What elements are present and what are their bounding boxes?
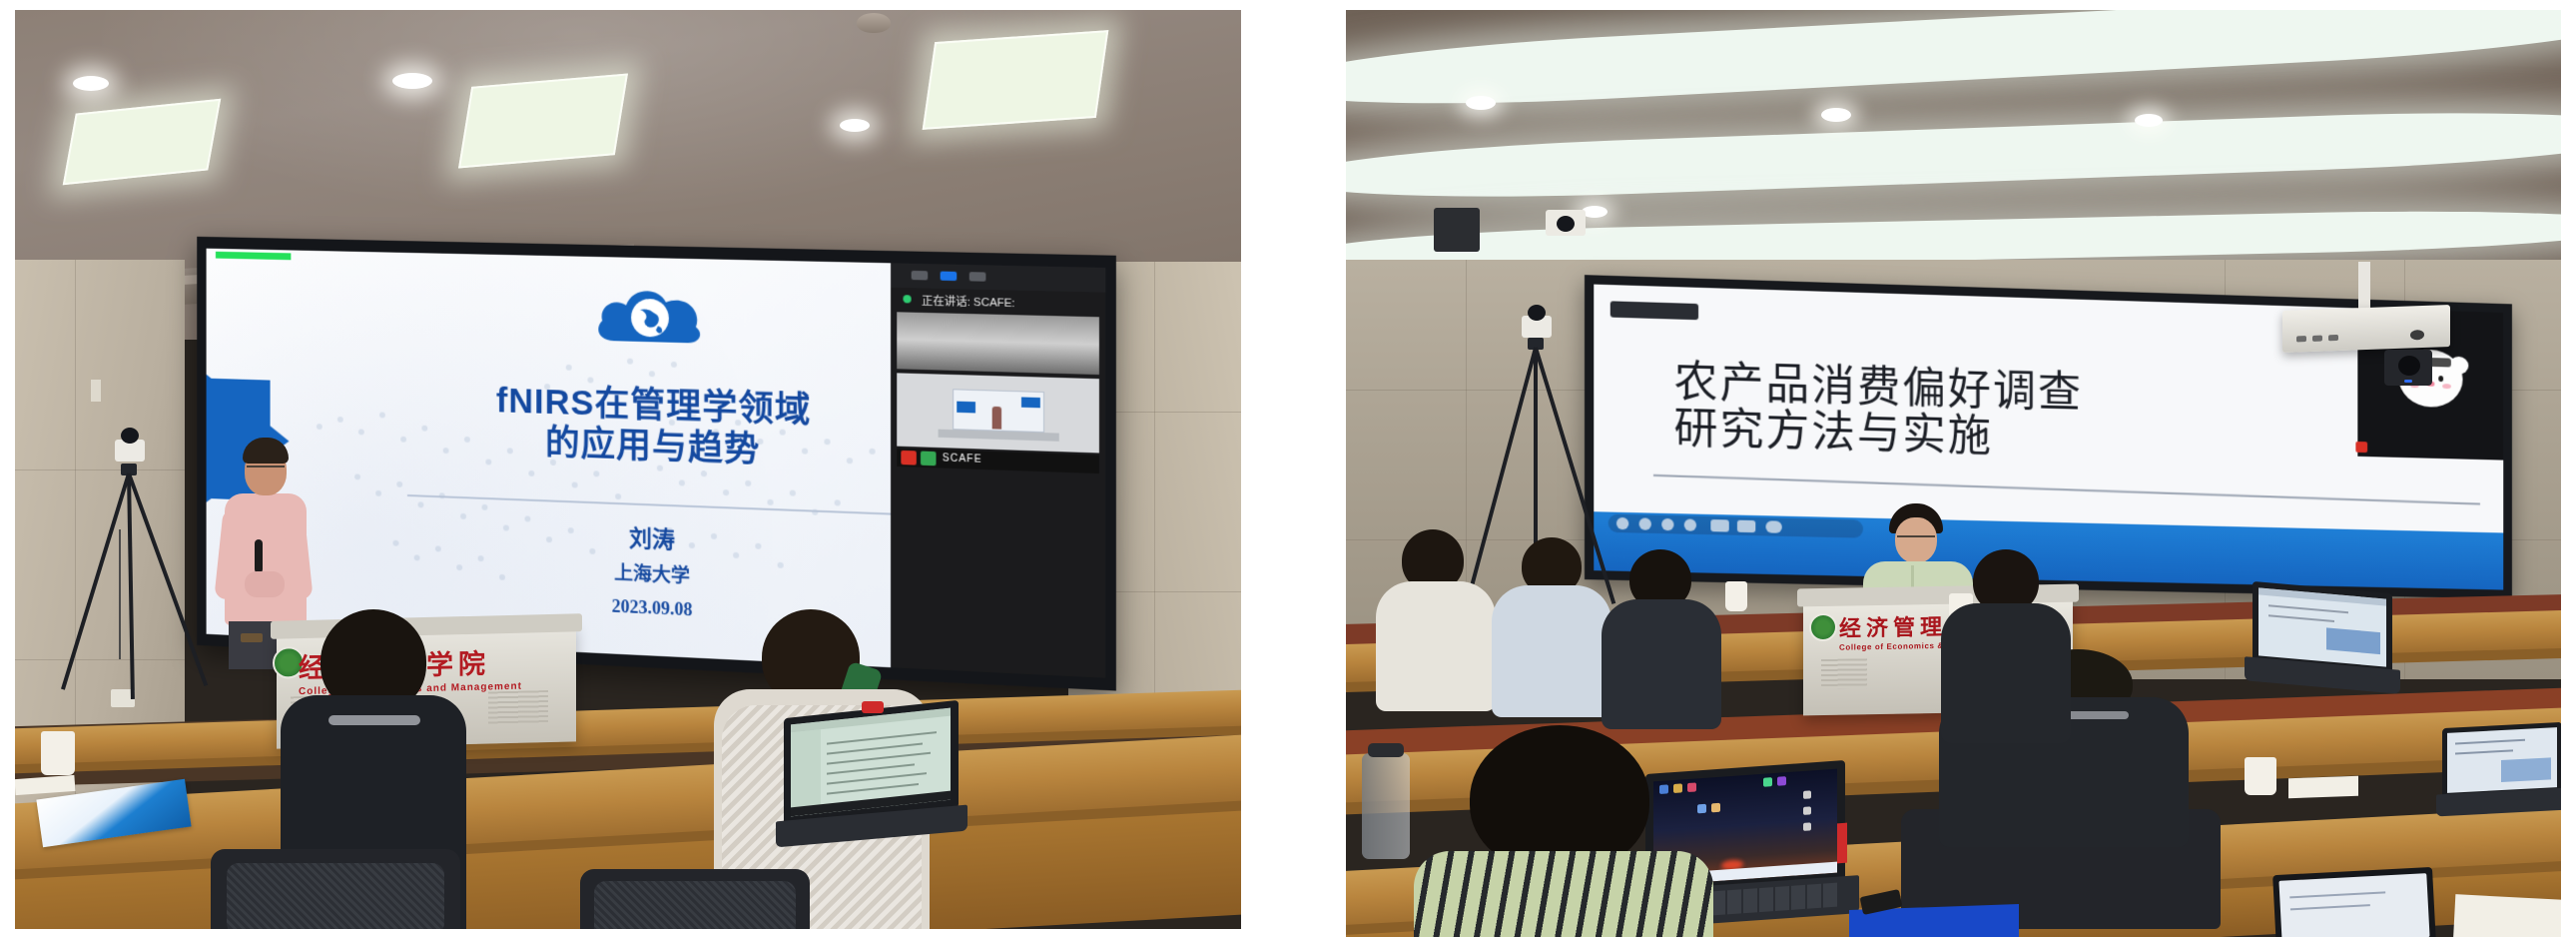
- ptz-camera-icon: [2384, 350, 2432, 386]
- audience-member: [1376, 529, 1496, 709]
- tablet[interactable]: [2272, 867, 2436, 937]
- collar: [328, 715, 420, 725]
- laptop-screen[interactable]: [791, 708, 951, 817]
- audience-member: [1492, 537, 1611, 717]
- presentation-mode-tag[interactable]: [1610, 301, 1698, 320]
- podium-vent: [1821, 658, 1867, 689]
- speaking-status-dot: [903, 295, 911, 303]
- laptop[interactable]: [2253, 587, 2392, 699]
- university-emblem-icon: [1809, 613, 1837, 641]
- belt: [241, 633, 263, 642]
- slide-nav-icon[interactable]: [1710, 519, 1728, 532]
- speaking-label: 正在讲话: SCAFE:: [922, 293, 1014, 312]
- paper-sheet: [2288, 776, 2358, 798]
- camera-on-icon[interactable]: [921, 451, 937, 466]
- camera-status-led: [2404, 380, 2412, 383]
- gallery-view-icon[interactable]: [941, 272, 958, 282]
- laptop-screen[interactable]: [2258, 587, 2386, 666]
- downlight-icon: [1466, 96, 1496, 110]
- video-tile-empty[interactable]: [897, 312, 1099, 375]
- mic-muted-icon[interactable]: [901, 451, 916, 466]
- presenter-hands: [245, 571, 285, 597]
- conference-toolbar[interactable]: [891, 263, 1105, 292]
- water-bottle: [1362, 753, 1410, 859]
- video-tile-room[interactable]: [897, 373, 1099, 453]
- ceiling-panel-light: [923, 30, 1109, 130]
- downlight-icon: [2135, 114, 2163, 127]
- office-chair: [580, 869, 810, 929]
- audience-member: [1941, 549, 2071, 739]
- camera-tripod: [73, 440, 193, 699]
- notes-icon[interactable]: [1737, 520, 1755, 533]
- left-photo: fNIRS在管理学领域 的应用与趋势 刘涛 上海大学 2023.09.08 正在…: [15, 10, 1241, 929]
- wall-speaker: [1434, 208, 1480, 252]
- layout-view-icon[interactable]: [912, 271, 929, 281]
- wall-mounted-camera: [1546, 210, 1586, 236]
- audience-member: [1414, 725, 1713, 937]
- presenter-hair: [243, 438, 289, 464]
- audience-member: [1602, 549, 1721, 729]
- paper-cup: [2245, 757, 2276, 795]
- slide-divider: [1653, 474, 2480, 505]
- pen-tool-icon[interactable]: [1661, 518, 1673, 530]
- webcam-cover-icon: [862, 701, 884, 713]
- office-chair: [211, 849, 460, 929]
- paper-cup: [41, 731, 75, 775]
- camera-lens-icon: [121, 428, 139, 444]
- ceiling-projector: [2282, 305, 2450, 353]
- microphone-icon: [255, 539, 263, 573]
- ceiling-panel-light: [458, 73, 628, 168]
- smoke-detector-icon: [857, 13, 891, 33]
- camera-lens-icon: [1528, 305, 1546, 321]
- downlight-icon: [392, 73, 432, 89]
- photo-collage: fNIRS在管理学领域 的应用与趋势 刘涛 上海大学 2023.09.08 正在…: [0, 0, 2576, 937]
- right-photo: 农产品消费偏好调查 研究方法与实施 正在讲话:: [1346, 10, 2561, 937]
- paper-sheet: [2453, 894, 2561, 937]
- mic-muted-icon[interactable]: [2355, 442, 2367, 453]
- brand-label: [1837, 823, 1847, 864]
- cursor-tool-icon[interactable]: [1616, 517, 1628, 529]
- downlight-icon: [1821, 108, 1851, 122]
- more-options-icon[interactable]: [1765, 520, 1781, 532]
- participant-name: SCAFE: [943, 453, 982, 466]
- downlight-icon: [73, 76, 109, 91]
- eraser-tool-icon[interactable]: [1684, 518, 1696, 530]
- pointer-tool-icon[interactable]: [1639, 517, 1651, 529]
- camera-lens-icon: [1557, 216, 1575, 232]
- slide-title: 农产品消费偏好调查 研究方法与实施: [1673, 360, 2373, 471]
- paper-cup: [1725, 581, 1747, 611]
- glasses-icon: [247, 466, 285, 475]
- downlight-icon: [840, 119, 870, 132]
- laptop[interactable]: [2442, 725, 2561, 821]
- list-view-icon[interactable]: [969, 272, 986, 282]
- glasses-icon: [1897, 535, 1935, 545]
- cloud-globe-logo-icon: [592, 277, 712, 358]
- laptop[interactable]: [784, 709, 959, 849]
- podium-vent: [488, 690, 548, 725]
- laptop-screen[interactable]: [2447, 727, 2557, 793]
